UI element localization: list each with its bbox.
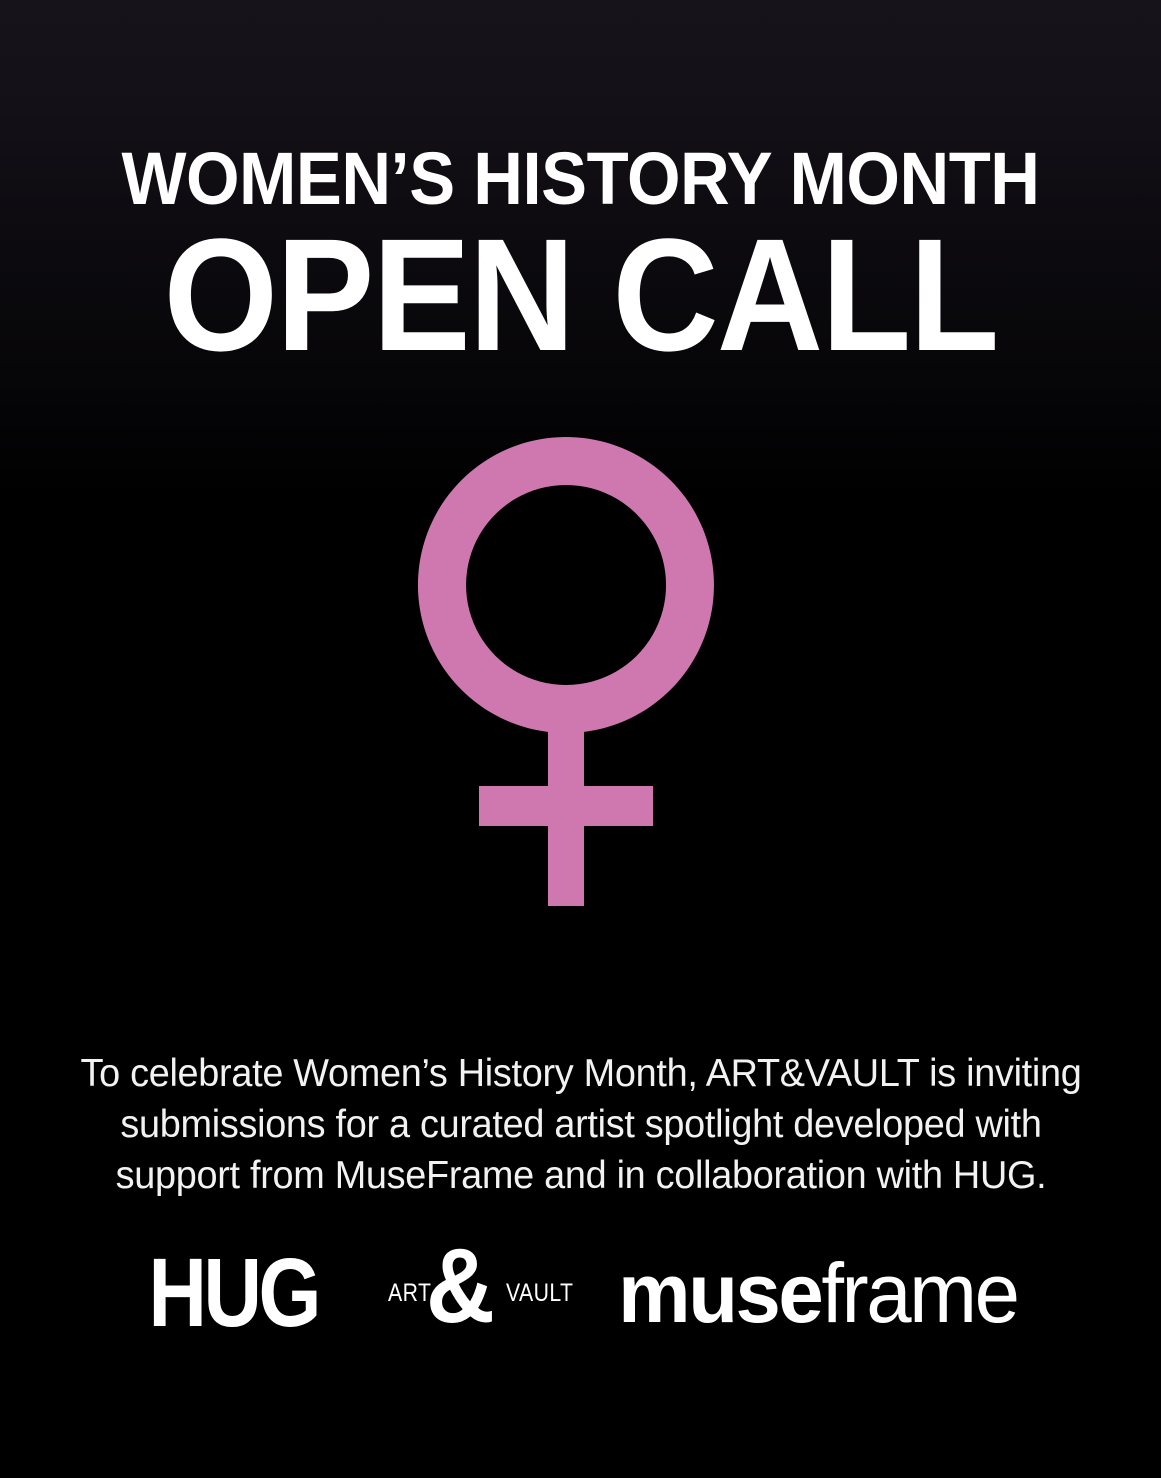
artvault-logo: ART & VAULT [382,1241,572,1345]
artvault-logo-vault: VAULT [506,1281,573,1306]
body-line-2: submissions for a curated artist spotlig… [76,1099,1085,1150]
page-title: WOMEN’S HISTORY MONTH OPEN CALL [0,140,1161,370]
headline-line-2: OPEN CALL [46,220,1114,370]
body-line-1: To celebrate Women’s History Month, ART&… [76,1048,1085,1099]
artvault-logo-art: ART [388,1281,431,1306]
female-venus-symbol-icon [411,430,751,920]
museframe-logo-frame: frame [821,1246,1017,1340]
body-copy: To celebrate Women’s History Month, ART&… [61,1048,1101,1201]
museframe-logo: museframe [618,1250,1017,1336]
venus-symbol-container [0,430,1161,920]
body-line-3: support from MuseFrame and in collaborat… [76,1150,1085,1201]
open-call-poster: WOMEN’S HISTORY MONTH OPEN CALL To celeb… [0,0,1161,1478]
artvault-logo-ampersand: & [426,1233,495,1339]
partner-logo-row: HUG ART & VAULT museframe [0,1238,1161,1348]
hug-logo: HUG [149,1244,318,1342]
museframe-logo-muse: muse [618,1246,821,1340]
